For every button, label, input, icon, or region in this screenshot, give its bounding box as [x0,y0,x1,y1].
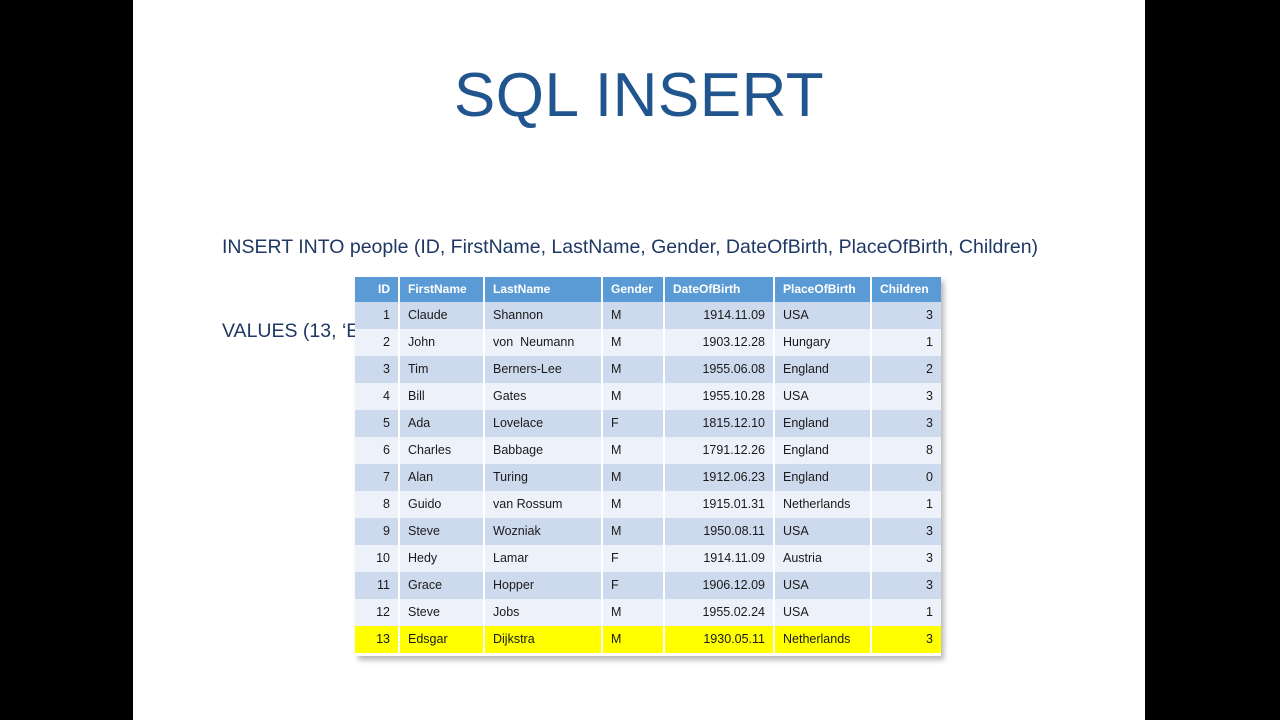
table-row[interactable]: 3TimBerners-LeeM1955.06.08England2 [355,356,941,383]
table-row[interactable]: 13EdsgarDijkstraM1930.05.11Netherlands3 [355,626,941,653]
cell-id: 6 [355,437,399,464]
cell-lastname: Berners-Lee [484,356,602,383]
cell-lastname: Turing [484,464,602,491]
letterbox-bar-right [1145,0,1280,720]
cell-id: 10 [355,545,399,572]
cell-placeofbirth: Netherlands [774,491,871,518]
cell-firstname: Charles [399,437,484,464]
cell-lastname: Shannon [484,302,602,329]
table-row[interactable]: 11GraceHopperF1906.12.09USA3 [355,572,941,599]
cell-firstname: Guido [399,491,484,518]
cell-gender: M [602,437,664,464]
cell-id: 7 [355,464,399,491]
cell-firstname: Alan [399,464,484,491]
table-row[interactable]: 1ClaudeShannonM1914.11.09USA3 [355,302,941,329]
table-row[interactable]: 9SteveWozniakM1950.08.11USA3 [355,518,941,545]
table-row[interactable]: 10HedyLamarF1914.11.09Austria3 [355,545,941,572]
cell-dateofbirth: 1914.11.09 [664,302,774,329]
cell-gender: M [602,329,664,356]
cell-gender: F [602,410,664,437]
cell-placeofbirth: USA [774,572,871,599]
cell-placeofbirth: Hungary [774,329,871,356]
cell-id: 5 [355,410,399,437]
cell-children: 8 [871,437,941,464]
cell-firstname: John [399,329,484,356]
column-header-lastname[interactable]: LastName [484,277,602,302]
sql-statement-line-1: INSERT INTO people (ID, FirstName, LastN… [222,233,1122,261]
cell-firstname: Claude [399,302,484,329]
column-header-children[interactable]: Children [871,277,941,302]
cell-children: 1 [871,491,941,518]
cell-id: 11 [355,572,399,599]
cell-gender: M [602,599,664,626]
cell-children: 3 [871,302,941,329]
cell-dateofbirth: 1955.06.08 [664,356,774,383]
cell-firstname: Tim [399,356,484,383]
cell-dateofbirth: 1914.11.09 [664,545,774,572]
cell-children: 0 [871,464,941,491]
letterbox-bar-left [0,0,133,720]
cell-placeofbirth: USA [774,383,871,410]
cell-gender: M [602,491,664,518]
cell-lastname: Jobs [484,599,602,626]
cell-id: 8 [355,491,399,518]
cell-children: 3 [871,518,941,545]
column-header-placeofbirth[interactable]: PlaceOfBirth [774,277,871,302]
cell-id: 1 [355,302,399,329]
cell-lastname: Hopper [484,572,602,599]
cell-children: 1 [871,599,941,626]
cell-gender: M [602,383,664,410]
cell-gender: F [602,572,664,599]
table-row[interactable]: 7AlanTuringM1912.06.23England0 [355,464,941,491]
cell-dateofbirth: 1955.10.28 [664,383,774,410]
cell-firstname: Hedy [399,545,484,572]
cell-dateofbirth: 1791.12.26 [664,437,774,464]
cell-placeofbirth: England [774,437,871,464]
column-header-gender[interactable]: Gender [602,277,664,302]
cell-placeofbirth: USA [774,599,871,626]
people-table-container: ID FirstName LastName Gender DateOfBirth… [355,277,941,656]
cell-lastname: van Rossum [484,491,602,518]
cell-lastname: Gates [484,383,602,410]
cell-lastname: Lovelace [484,410,602,437]
people-table: ID FirstName LastName Gender DateOfBirth… [355,277,941,653]
cell-firstname: Steve [399,599,484,626]
table-row[interactable]: 5AdaLovelaceF1815.12.10England3 [355,410,941,437]
cell-placeofbirth: England [774,410,871,437]
cell-dateofbirth: 1912.06.23 [664,464,774,491]
cell-id: 3 [355,356,399,383]
cell-placeofbirth: USA [774,518,871,545]
cell-placeofbirth: England [774,356,871,383]
table-row[interactable]: 12SteveJobsM1955.02.24USA1 [355,599,941,626]
cell-dateofbirth: 1906.12.09 [664,572,774,599]
cell-id: 9 [355,518,399,545]
cell-id: 2 [355,329,399,356]
cell-id: 4 [355,383,399,410]
cell-dateofbirth: 1903.12.28 [664,329,774,356]
cell-dateofbirth: 1815.12.10 [664,410,774,437]
cell-lastname: von Neumann [484,329,602,356]
table-row[interactable]: 2Johnvon NeumannM1903.12.28Hungary1 [355,329,941,356]
cell-firstname: Ada [399,410,484,437]
cell-placeofbirth: USA [774,302,871,329]
cell-id: 12 [355,599,399,626]
cell-firstname: Edsgar [399,626,484,653]
table-row[interactable]: 6CharlesBabbageM1791.12.26England8 [355,437,941,464]
cell-lastname: Babbage [484,437,602,464]
cell-lastname: Wozniak [484,518,602,545]
cell-placeofbirth: England [774,464,871,491]
cell-dateofbirth: 1915.01.31 [664,491,774,518]
column-header-id[interactable]: ID [355,277,399,302]
people-table-body: 1ClaudeShannonM1914.11.09USA32Johnvon Ne… [355,302,941,653]
cell-gender: M [602,626,664,653]
cell-gender: M [602,302,664,329]
cell-firstname: Grace [399,572,484,599]
cell-gender: M [602,518,664,545]
slide-screen: SQL INSERT INSERT INTO people (ID, First… [0,0,1280,720]
cell-firstname: Steve [399,518,484,545]
cell-dateofbirth: 1930.05.11 [664,626,774,653]
cell-children: 2 [871,356,941,383]
cell-children: 3 [871,572,941,599]
page-title: SQL INSERT [133,60,1145,131]
column-header-firstname[interactable]: FirstName [399,277,484,302]
cell-gender: M [602,464,664,491]
cell-children: 1 [871,329,941,356]
slide-canvas: SQL INSERT INSERT INTO people (ID, First… [133,0,1145,720]
people-table-head: ID FirstName LastName Gender DateOfBirth… [355,277,941,302]
cell-dateofbirth: 1950.08.11 [664,518,774,545]
cell-children: 3 [871,545,941,572]
cell-placeofbirth: Netherlands [774,626,871,653]
cell-children: 3 [871,410,941,437]
cell-id: 13 [355,626,399,653]
table-row[interactable]: 8Guidovan RossumM1915.01.31Netherlands1 [355,491,941,518]
table-row[interactable]: 4BillGatesM1955.10.28USA3 [355,383,941,410]
cell-lastname: Lamar [484,545,602,572]
cell-gender: M [602,356,664,383]
cell-firstname: Bill [399,383,484,410]
cell-gender: F [602,545,664,572]
column-header-dateofbirth[interactable]: DateOfBirth [664,277,774,302]
cell-placeofbirth: Austria [774,545,871,572]
table-header-row: ID FirstName LastName Gender DateOfBirth… [355,277,941,302]
cell-children: 3 [871,626,941,653]
cell-lastname: Dijkstra [484,626,602,653]
cell-dateofbirth: 1955.02.24 [664,599,774,626]
cell-children: 3 [871,383,941,410]
